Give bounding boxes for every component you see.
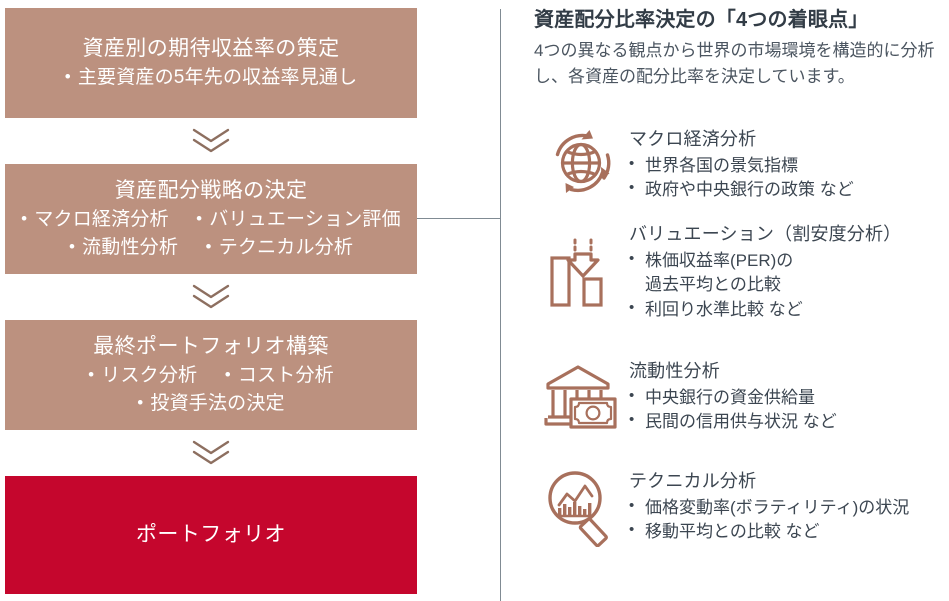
flow-step-line: マクロ経済分析 バリュエーション評価	[21, 206, 401, 234]
flow-step-4-portfolio: ポートフォリオ	[5, 476, 417, 594]
valuation-bars-arrow-icon	[533, 220, 629, 330]
flow-step-line: 主要資産の5年先の収益率見通し	[65, 64, 358, 92]
focus-point-item-macro: マクロ経済分析 世界各国の景気指標 政府や中央銀行の政策 など	[533, 122, 949, 220]
flow-step-line-text: リスク分析	[88, 362, 197, 390]
focus-point-body: テクニカル分析 価格変動率(ボラティリティ)の状況 移動平均との比較 など	[629, 461, 949, 545]
double-chevron-down-icon	[189, 282, 233, 312]
flow-step-3-lines: リスク分析 コスト分析 投資手法の決定	[88, 362, 334, 417]
infographic-root: 資産別の期待収益率の策定 主要資産の5年先の収益率見通し 資産配分戦略の決定 マ…	[0, 0, 949, 601]
focus-point-bullets: 中央銀行の資金供給量 民間の信用供与状況 など	[629, 386, 949, 435]
double-chevron-down-icon	[189, 126, 233, 156]
flow-step-4-title: ポートフォリオ	[136, 521, 286, 549]
focus-point-bullet: 移動平均との比較 など	[629, 520, 949, 544]
focus-point-bullet: 政府や中央銀行の政策 など	[629, 178, 949, 202]
flow-step-2: 資産配分戦略の決定 マクロ経済分析 バリュエーション評価 流動性分析 テクニカル…	[5, 164, 417, 274]
flow-step-line-text: 流動性分析	[69, 234, 178, 262]
focus-point-bullets: 世界各国の景気指標 政府や中央銀行の政策 など	[629, 154, 949, 203]
flow-step-line: 流動性分析 テクニカル分析	[21, 234, 401, 262]
flow-step-1-title: 資産別の期待収益率の策定	[82, 35, 339, 63]
flow-step-line-text: テクニカル分析	[206, 234, 354, 262]
focus-point-heading: テクニカル分析	[629, 467, 949, 493]
focus-point-body: 流動性分析 中央銀行の資金供給量 民間の信用供与状況 など	[629, 353, 949, 435]
focus-point-body: バリュエーション（割安度分析） 株価収益率(PER)の 過去平均との比較 利回り…	[629, 220, 949, 322]
flow-step-1-lines: 主要資産の5年先の収益率見通し	[65, 64, 358, 92]
focus-point-item-liquidity: 流動性分析 中央銀行の資金供給量 民間の信用供与状況 など	[533, 353, 949, 461]
focus-point-item-valuation: バリュエーション（割安度分析） 株価収益率(PER)の 過去平均との比較 利回り…	[533, 220, 949, 353]
focus-point-body: マクロ経済分析 世界各国の景気指標 政府や中央銀行の政策 など	[629, 122, 949, 203]
focus-point-list: マクロ経済分析 世界各国の景気指標 政府や中央銀行の政策 など	[533, 122, 949, 561]
panel-title: 資産配分比率決定の「4つの着眼点」	[534, 3, 869, 32]
focus-point-item-technical: テクニカル分析 価格変動率(ボラティリティ)の状況 移動平均との比較 など	[533, 461, 949, 561]
magnifier-chart-icon	[533, 461, 629, 563]
double-chevron-down-icon	[189, 438, 233, 468]
focus-point-bullet: 株価収益率(PER)の	[629, 249, 949, 273]
focus-point-bullet: 中央銀行の資金供給量	[629, 386, 949, 410]
connector-line-horizontal	[417, 218, 501, 219]
flow-step-line-text: マクロ経済分析	[21, 206, 169, 234]
focus-point-bullet: 価格変動率(ボラティリティ)の状況	[629, 496, 949, 520]
flow-step-3: 最終ポートフォリオ構築 リスク分析 コスト分析 投資手法の決定	[5, 320, 417, 430]
flow-arrow-1	[5, 118, 417, 164]
flow-step-line-text: 主要資産の5年先の収益率見通し	[65, 64, 358, 92]
focus-points-panel: 資産配分比率決定の「4つの着眼点」 4つの異なる観点から世界の市場環境を構造的に…	[533, 0, 949, 601]
process-flow-column: 資産別の期待収益率の策定 主要資産の5年先の収益率見通し 資産配分戦略の決定 マ…	[5, 0, 417, 601]
panel-lead-text: 4つの異なる観点から世界の市場環境を構造的に分析し、各資産の配分比率を決定してい…	[534, 38, 946, 90]
flow-step-3-title: 最終ポートフォリオ構築	[93, 333, 329, 361]
globe-cycle-icon	[533, 122, 629, 222]
focus-point-bullet: 民間の信用供与状況 など	[629, 410, 949, 434]
focus-point-heading: バリュエーション（割安度分析）	[629, 220, 949, 246]
flow-step-line-text: バリュエーション評価	[196, 206, 401, 234]
flow-step-2-lines: マクロ経済分析 バリュエーション評価 流動性分析 テクニカル分析	[21, 206, 401, 261]
focus-point-heading: 流動性分析	[629, 357, 949, 383]
panel-divider-vertical	[500, 9, 501, 601]
flow-arrow-2	[5, 274, 417, 320]
focus-point-heading: マクロ経済分析	[629, 125, 949, 151]
focus-point-bullet-continuation: 過去平均との比較	[629, 273, 949, 297]
focus-point-bullet: 世界各国の景気指標	[629, 154, 949, 178]
flow-arrow-3	[5, 430, 417, 476]
focus-point-bullets: 株価収益率(PER)の 過去平均との比較 利回り水準比較 など	[629, 249, 949, 322]
flow-step-line-text: 投資手法の決定	[137, 390, 285, 418]
bank-banknote-icon	[533, 353, 629, 457]
flow-step-2-title: 資産配分戦略の決定	[115, 177, 308, 205]
focus-point-bullets: 価格変動率(ボラティリティ)の状況 移動平均との比較 など	[629, 496, 949, 545]
flow-step-line-text: コスト分析	[225, 362, 334, 390]
focus-point-bullet: 利回り水準比較 など	[629, 298, 949, 322]
flow-step-line: リスク分析 コスト分析	[88, 362, 334, 390]
flow-step-1: 資産別の期待収益率の策定 主要資産の5年先の収益率見通し	[5, 8, 417, 118]
flow-step-line: 投資手法の決定	[88, 390, 334, 418]
